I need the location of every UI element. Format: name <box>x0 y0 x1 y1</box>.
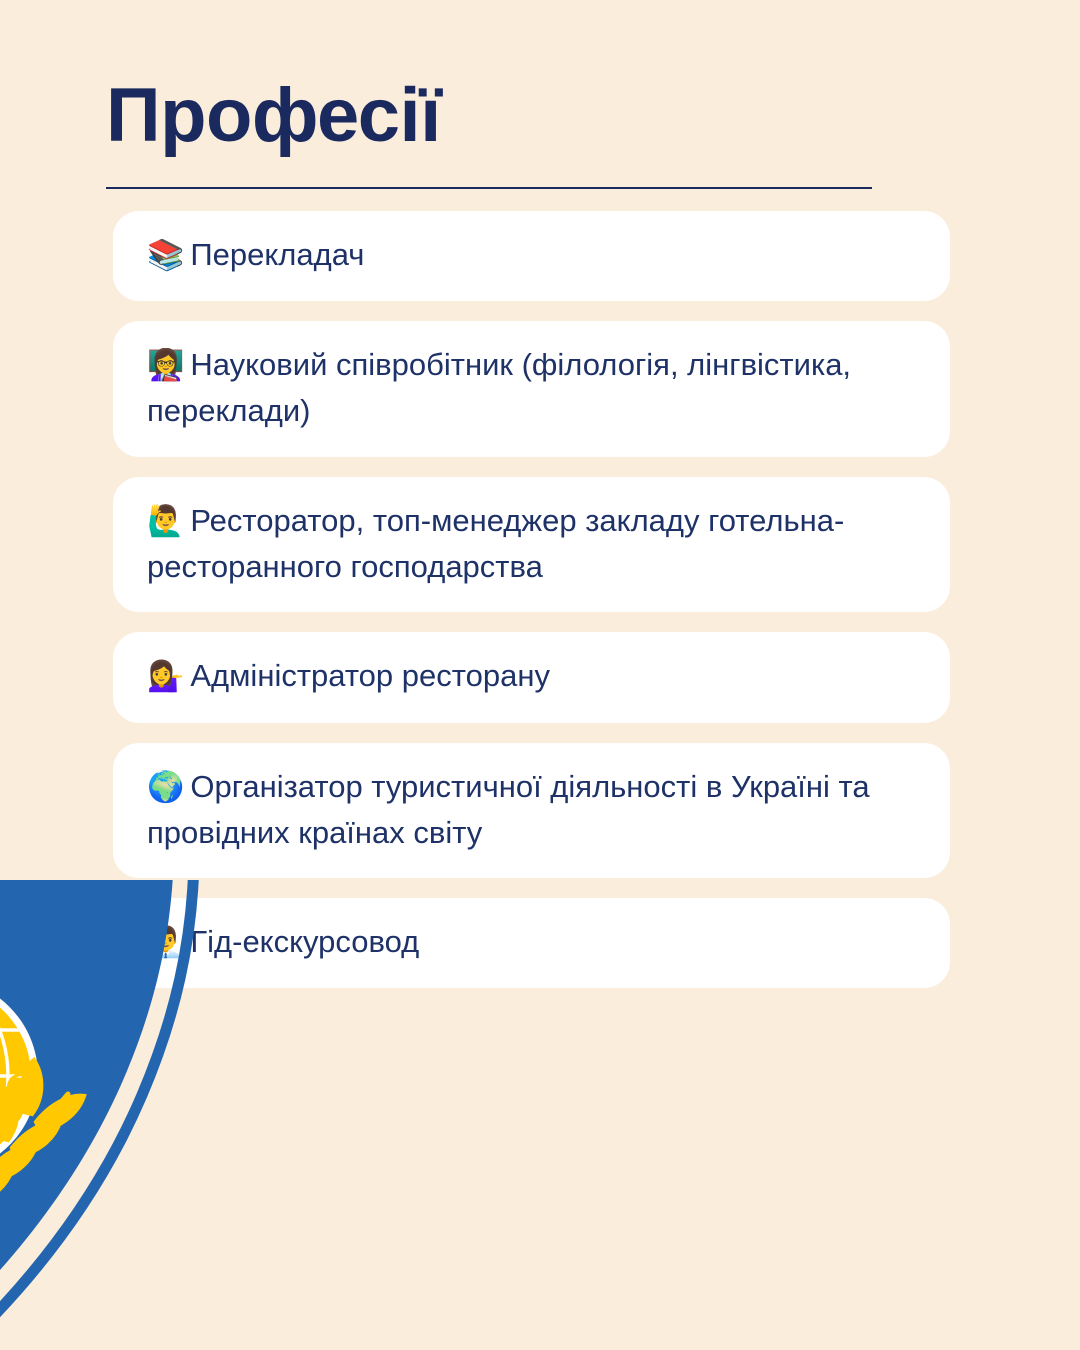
woman-teacher-emoji: 👩‍🏫 <box>147 348 184 383</box>
page-title: Професії <box>106 78 874 154</box>
poster-canvas: Професії 📚Перекладач 👩‍🏫Науковий співроб… <box>0 0 1080 1350</box>
list-item-text: 💁‍♀️Адміністратор ресторану <box>147 653 916 699</box>
list-item[interactable]: 👨‍💼Гід-екскурсовод <box>113 898 950 988</box>
list-item-text: 🙋‍♂️Ресторатор, топ-менеджер закладу гот… <box>147 498 916 590</box>
list-item-label: Науковий співробітник (філологія, лінгві… <box>147 347 851 428</box>
man-raising-hand-emoji: 🙋‍♂️ <box>147 504 184 539</box>
list-item-label: Гід-екскурсовод <box>190 924 419 959</box>
list-item-text: 🌍Організатор туристичної діяльності в Ук… <box>147 764 916 856</box>
profession-list: 📚Перекладач 👩‍🏫Науковий співробітник (фі… <box>113 211 950 988</box>
woman-office-worker-emoji: 💁‍♀️ <box>147 659 184 694</box>
books-emoji: 📚 <box>147 238 184 273</box>
list-item[interactable]: 📚Перекладач <box>113 211 950 301</box>
list-item-label: Ресторатор, топ-менеджер закладу готельн… <box>147 503 844 584</box>
globe-graphic <box>0 978 48 1174</box>
title-divider <box>106 187 872 189</box>
list-item-label: Адміністратор ресторану <box>190 658 550 693</box>
list-item-label: Перекладач <box>190 237 364 272</box>
list-item[interactable]: 👩‍🏫Науковий співробітник (філологія, лін… <box>113 321 950 457</box>
list-item-label: Організатор туристичної діяльності в Укр… <box>147 769 870 850</box>
header: Професії <box>106 78 874 189</box>
list-item-text: 👩‍🏫Науковий співробітник (філологія, лін… <box>147 342 916 434</box>
list-item[interactable]: 🌍Організатор туристичної діяльності в Ук… <box>113 743 950 879</box>
list-item-text: 👨‍💼Гід-екскурсовод <box>147 919 916 965</box>
man-office-worker-emoji: 👨‍💼 <box>147 925 184 960</box>
olive-branch-graphic <box>0 1060 84 1232</box>
list-item-text: 📚Перекладач <box>147 232 916 278</box>
globe-europe-africa-emoji: 🌍 <box>147 770 184 805</box>
list-item[interactable]: 💁‍♀️Адміністратор ресторану <box>113 632 950 722</box>
list-item[interactable]: 🙋‍♂️Ресторатор, топ-менеджер закладу гот… <box>113 477 950 613</box>
